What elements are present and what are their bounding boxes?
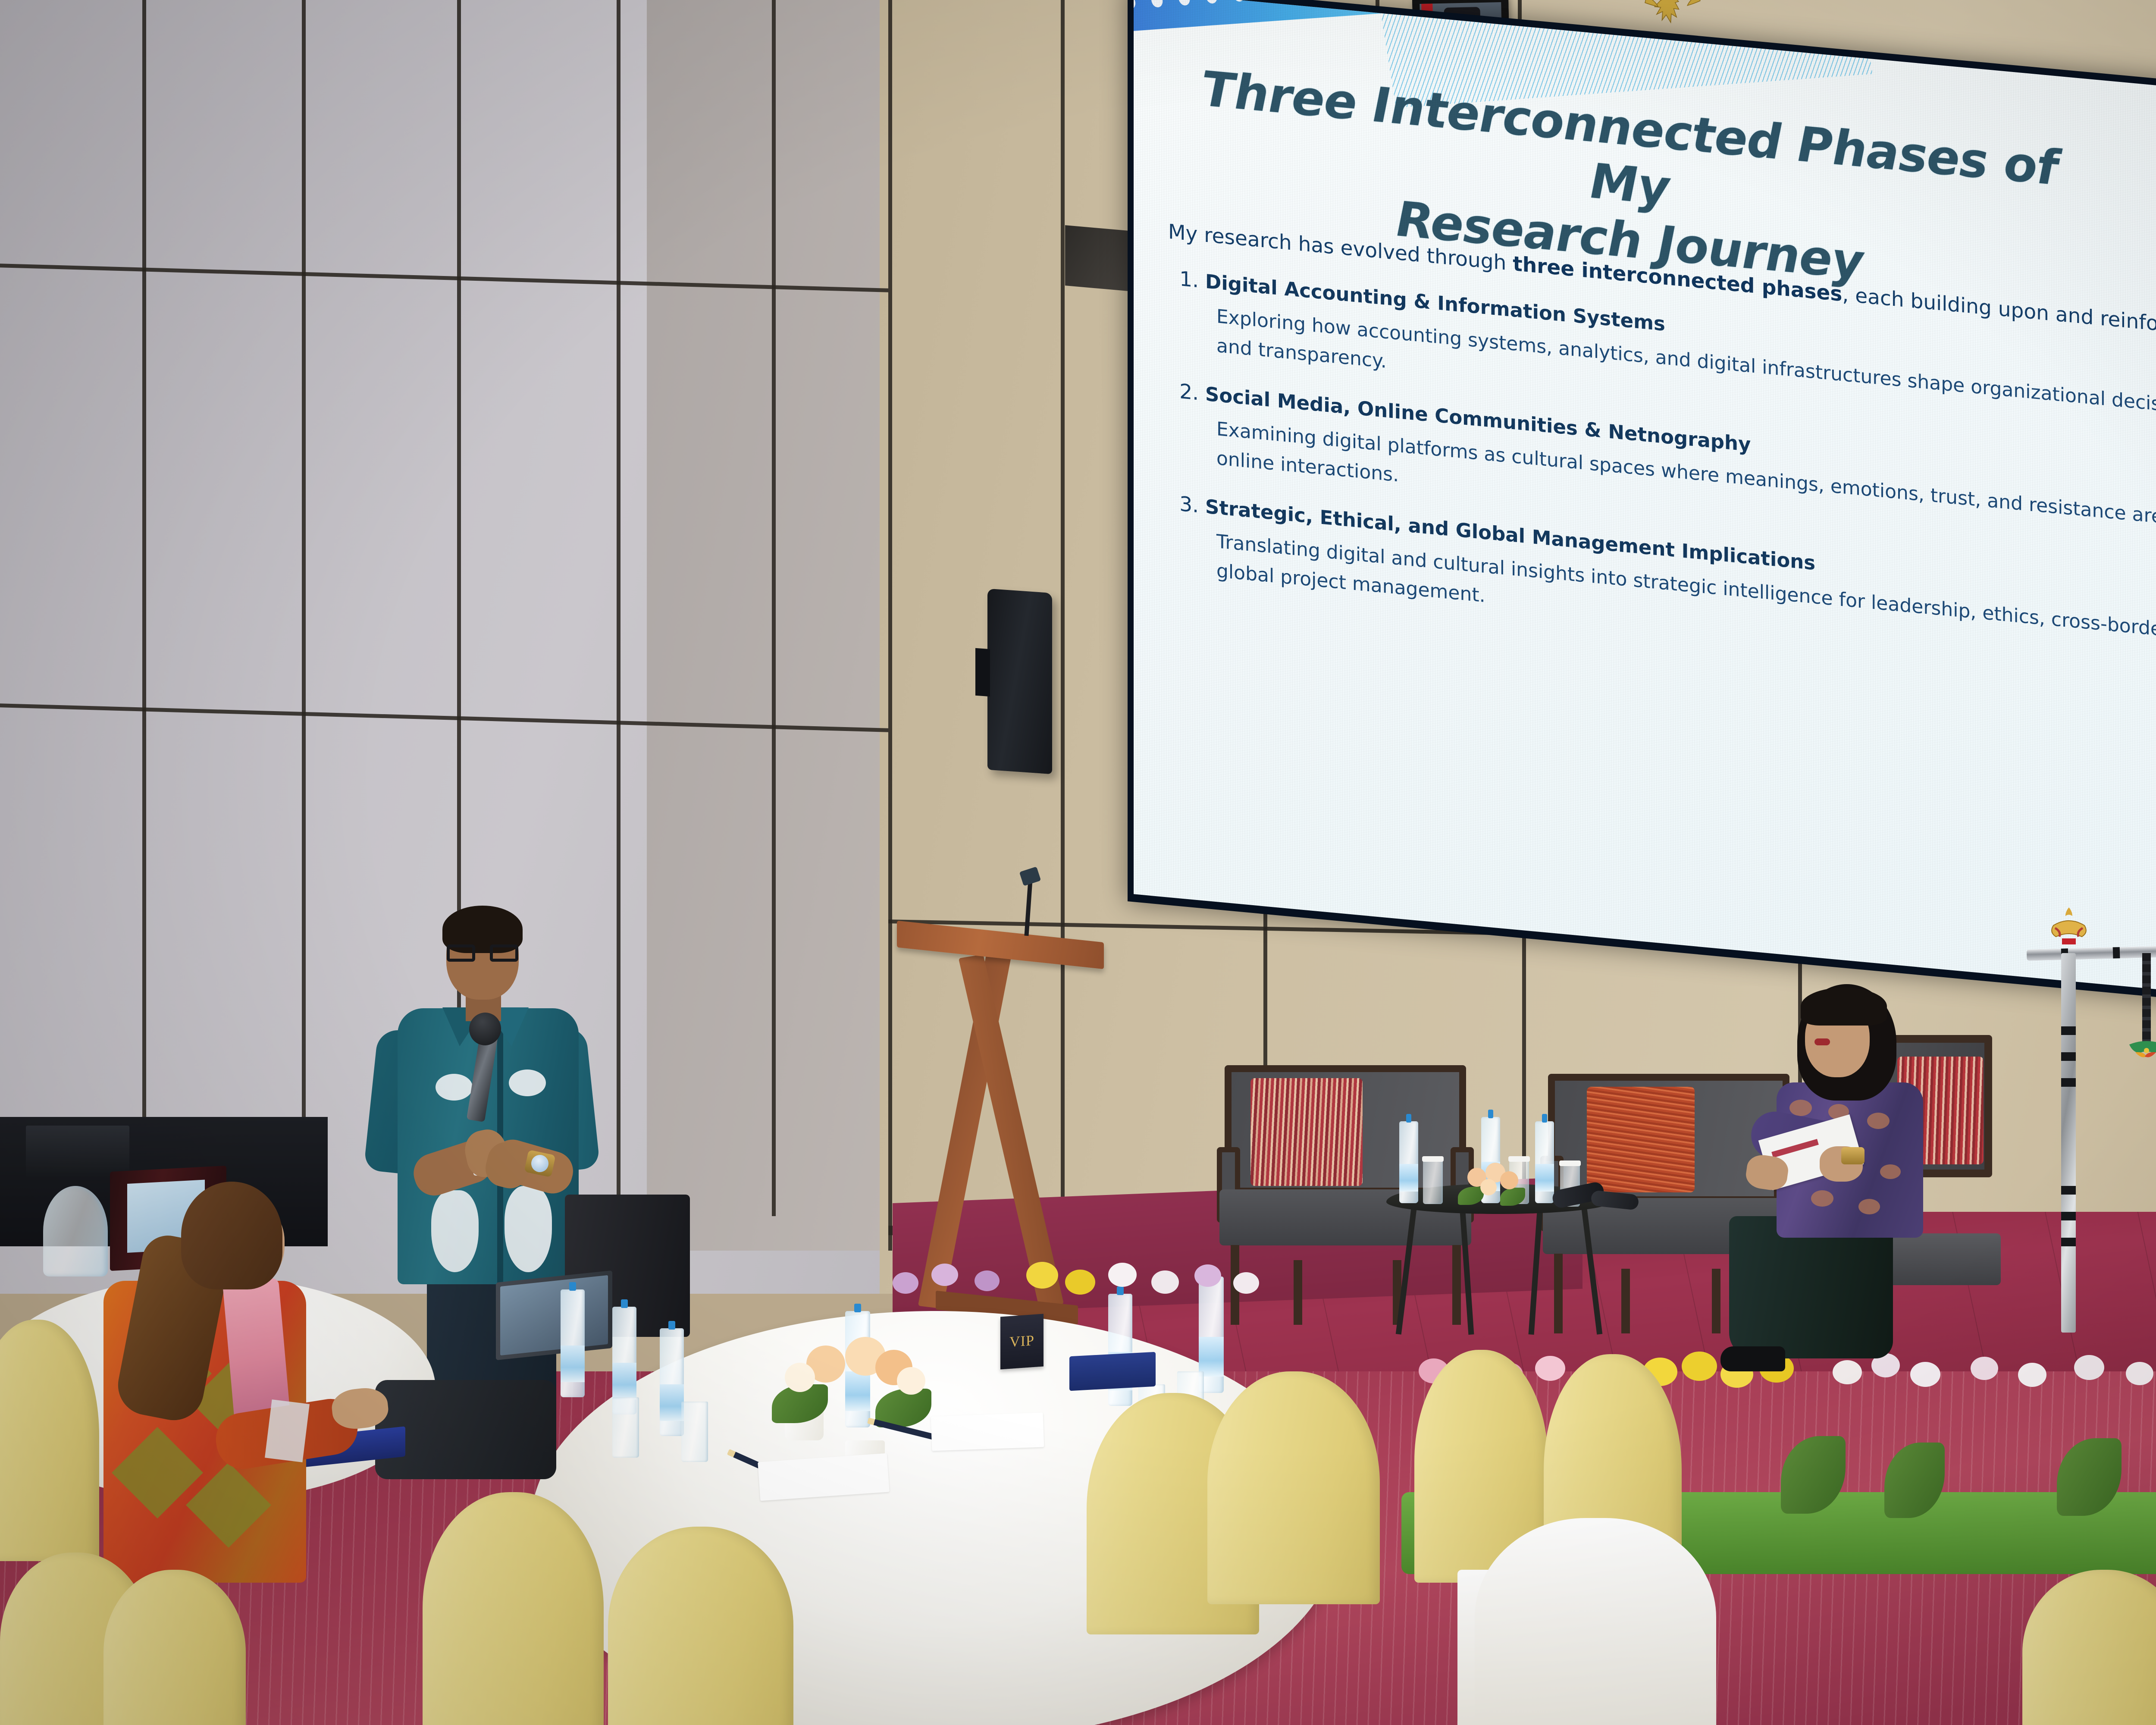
table-flower-arrangement (1455, 1160, 1529, 1207)
lectern-leg (918, 953, 1011, 1309)
wall-joint (142, 0, 146, 1251)
slide-intro-bold: three interconnected phases (1513, 252, 1842, 306)
gong-post-left (2061, 953, 2076, 1333)
wall-far-panel (647, 0, 914, 1251)
gong-hanger (2142, 953, 2151, 1044)
moderator-lips (1814, 1038, 1830, 1045)
water-bottle (561, 1289, 585, 1397)
eyeglasses-icon (447, 944, 518, 962)
conference-folder (1069, 1352, 1156, 1391)
moderator-shoe (1720, 1346, 1785, 1371)
bottle-label (660, 1384, 684, 1421)
slide-body: My research has evolved through three in… (1168, 196, 2156, 715)
water-bottle (1535, 1121, 1554, 1203)
presentation-slide: Three Interconnected Phases of My Resear… (1134, 0, 2156, 1014)
glass-lid (1559, 1160, 1581, 1166)
armchair-cushion (1587, 1087, 1695, 1192)
ceremonial-gong (2027, 867, 2156, 1341)
slide-band-dots (1134, 0, 1327, 9)
equipment-case (26, 1126, 129, 1177)
glass-lid (1422, 1156, 1444, 1162)
slide-phase-list: Digital Accounting & Information Systems… (1168, 263, 2156, 696)
water-bottle (660, 1328, 684, 1436)
conference-photo-scene: Jenderal TNI (Purn.) H. Prabowo Subianto… (0, 0, 2156, 1725)
table-leg (1581, 1205, 1602, 1334)
table-leg (1529, 1205, 1543, 1335)
armchair-cushion (1250, 1078, 1363, 1186)
laptop-screen (500, 1275, 608, 1355)
vip-table-card: VIP (1000, 1314, 1044, 1370)
wall-joint (302, 0, 306, 1242)
drinking-glass (1423, 1160, 1443, 1204)
drinking-glass (681, 1402, 708, 1462)
moderator-seated (1712, 975, 1988, 1376)
banquet-chair (423, 1492, 604, 1725)
attendee-lanyard-badge (265, 1399, 310, 1462)
banquet-chair-cover (1475, 1518, 1716, 1725)
napkin (931, 1412, 1044, 1451)
wall-joint (772, 0, 776, 1216)
banquet-chair (1207, 1371, 1380, 1604)
background-flowers (884, 1259, 1272, 1371)
gong-ornament-icon (2126, 1038, 2156, 1063)
gong-crown-icon (2043, 906, 2095, 957)
wristwatch-icon (1841, 1147, 1865, 1164)
bottle-label (612, 1363, 636, 1399)
attendee-hair (181, 1182, 282, 1289)
water-bottle (1399, 1121, 1418, 1203)
bottle-label (1535, 1164, 1554, 1192)
bottle-label (1399, 1164, 1418, 1192)
banquet-chair (608, 1527, 793, 1725)
table-leg (1460, 1205, 1474, 1335)
table-leg (1396, 1205, 1417, 1334)
speaker-bracket (975, 648, 990, 696)
led-presentation-screen: Three Interconnected Phases of My Resear… (1128, 0, 2156, 1023)
moderator-bangs (1801, 988, 1887, 1026)
wall-joint (888, 0, 892, 1251)
laptop[interactable] (496, 1270, 612, 1360)
banquet-chair (103, 1570, 246, 1725)
drinking-glass (612, 1397, 639, 1458)
bottle-label (561, 1345, 585, 1382)
wall-speaker-icon (987, 589, 1052, 774)
